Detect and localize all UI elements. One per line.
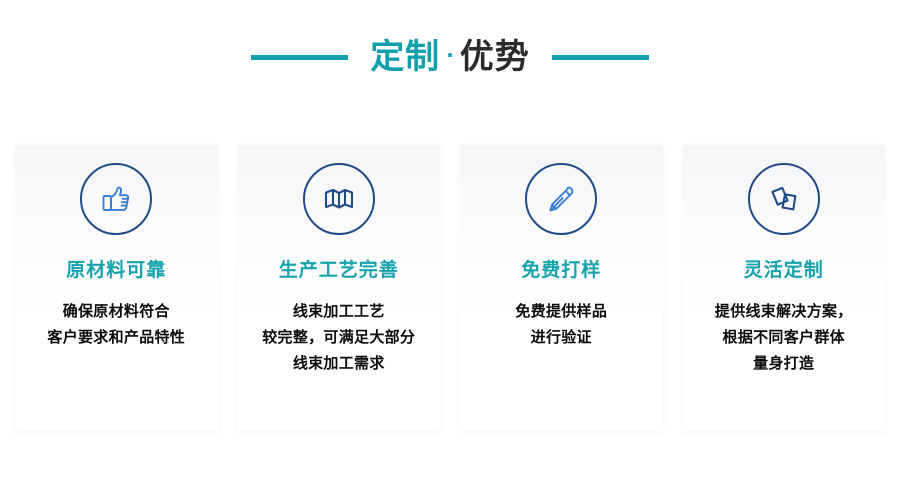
icon-circle [748,163,820,235]
card-description-line: 进行验证 [515,325,607,351]
header-rule-right [552,55,649,60]
page-title: 定制 · 优势 [370,40,530,74]
card-description-line: 提供线束解决方案， [715,299,853,325]
card-description: 线束加工工艺 较完整，可满足大部分 线束加工需求 [254,299,423,376]
page-title-separator: · [446,45,455,65]
card-description-line: 确保原材料符合 [47,299,185,325]
card-description-line: 较完整，可满足大部分 [262,325,415,351]
card-title: 灵活定制 [744,261,824,280]
feature-card[interactable]: 灵活定制 提供线束解决方案， 根据不同客户群体 量身打造 [683,145,886,431]
card-title: 免费打样 [521,261,601,280]
header-rule-left [251,55,348,60]
card-description-line: 线束加工工艺 [262,299,415,325]
card-description-line: 客户要求和产品特性 [47,325,185,351]
card-title: 生产工艺完善 [279,261,399,280]
page-title-accent: 定制 [370,40,440,74]
feature-card[interactable]: 免费打样 免费提供样品 进行验证 [460,145,663,431]
card-description: 免费提供样品 进行验证 [507,299,615,351]
icon-circle [303,163,375,235]
card-title: 原材料可靠 [66,261,166,280]
card-description: 确保原材料符合 客户要求和产品特性 [39,299,193,351]
feature-card-list: 原材料可靠 确保原材料符合 客户要求和产品特性 生产工艺完善 线束加工工艺 较完… [15,145,885,431]
stacked-cards-icon [766,181,802,217]
card-description-line: 根据不同客户群体 [715,325,853,351]
feature-card[interactable]: 生产工艺完善 线束加工工艺 较完整，可满足大部分 线束加工需求 [238,145,441,431]
folded-map-icon [321,181,357,217]
section-header: 定制 · 优势 [0,26,900,88]
card-description-line: 量身打造 [715,351,853,377]
feature-card[interactable]: 原材料可靠 确保原材料符合 客户要求和产品特性 [15,145,218,431]
thumbs-up-icon [98,181,134,217]
icon-circle [525,163,597,235]
card-description: 提供线束解决方案， 根据不同客户群体 量身打造 [707,299,861,376]
icon-circle [80,163,152,235]
card-description-line: 线束加工需求 [262,351,415,377]
pencil-icon [543,181,579,217]
page-title-dark: 优势 [460,40,530,74]
card-description-line: 免费提供样品 [515,299,607,325]
